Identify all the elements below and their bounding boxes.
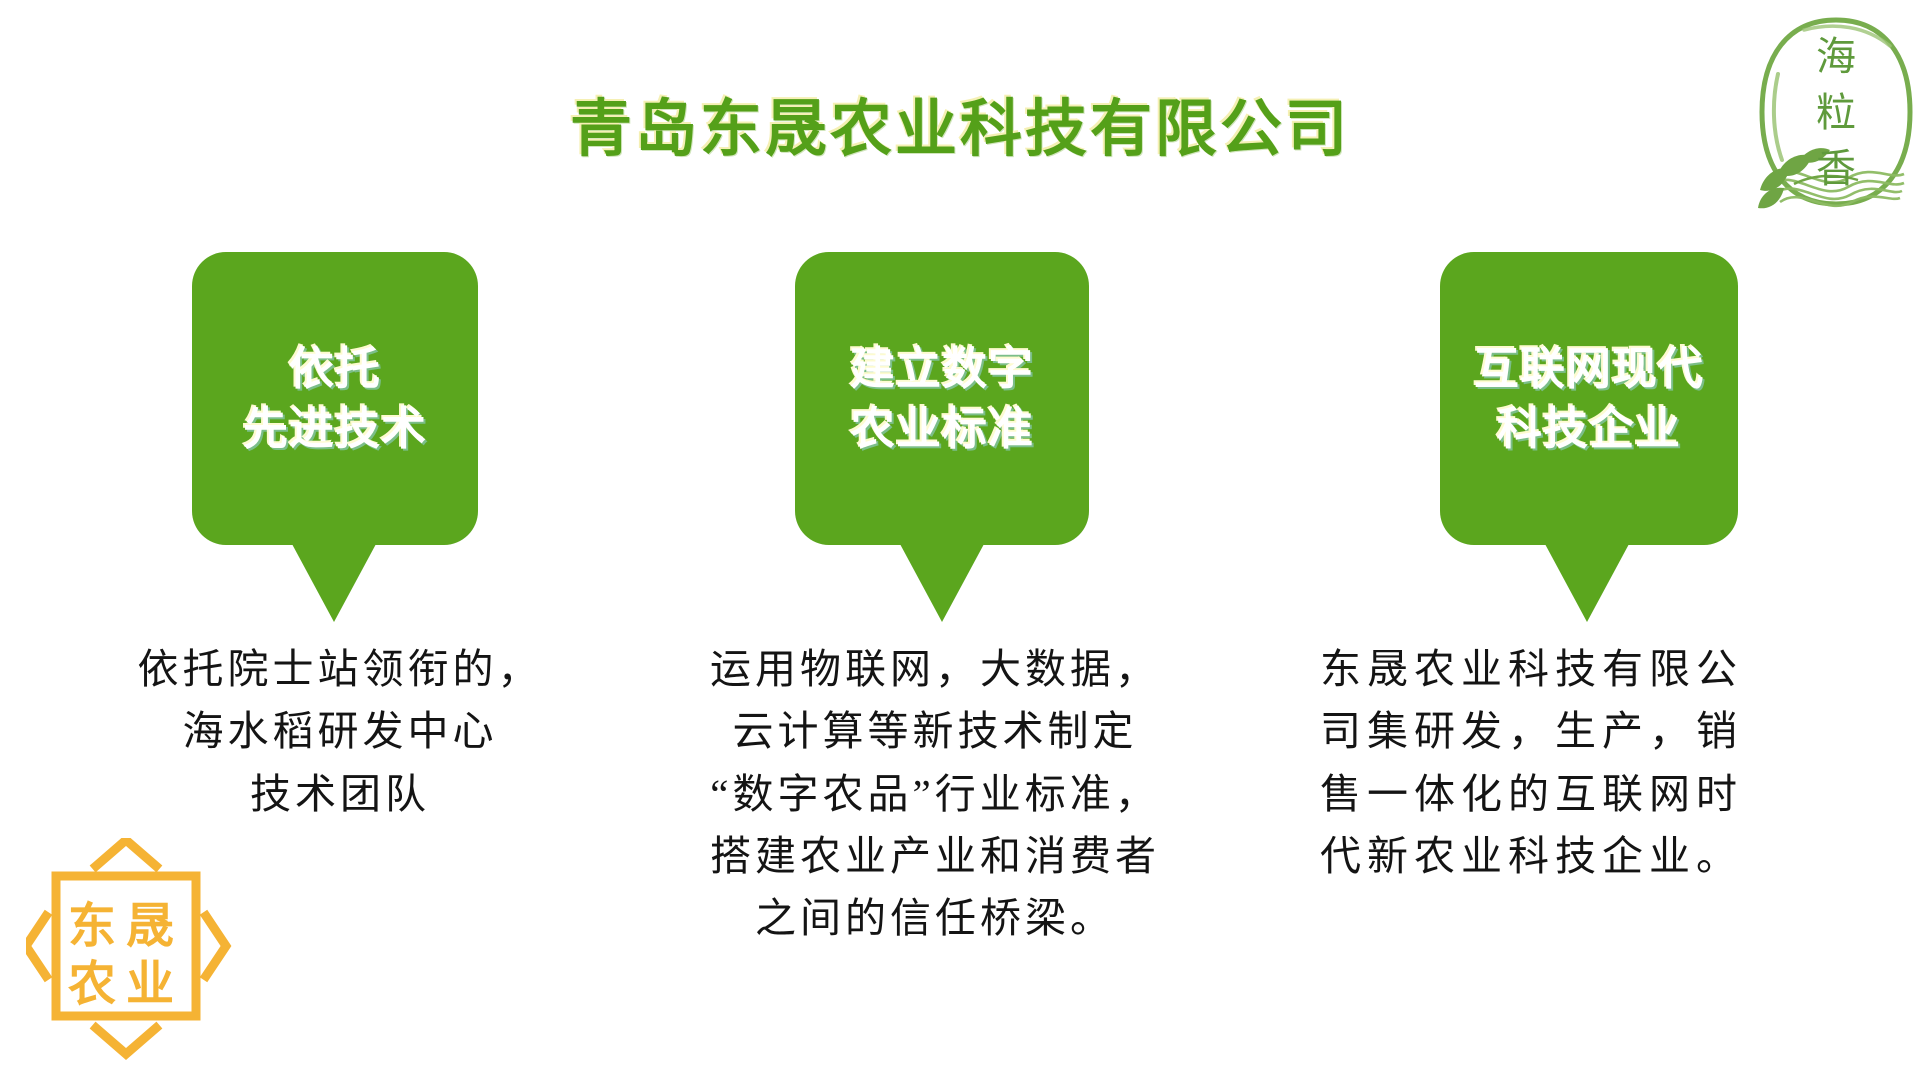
callout-bubble-2-heading: 建立数字 农业标准 bbox=[850, 339, 1034, 458]
callout-bubble-3-heading: 互联网现代 科技企业 bbox=[1474, 339, 1704, 458]
callout-bubble-2-tail bbox=[900, 544, 984, 622]
svg-text:晟: 晟 bbox=[126, 900, 174, 953]
brand-seal-logo: 海 粒 香 bbox=[1748, 8, 1920, 218]
callout-bubble-2: 建立数字 农业标准 bbox=[795, 252, 1089, 545]
callout-bubble-3-body: 东晟农业科技有限公 司集研发，生产，销 售一体化的互联网时 代新农业科技企业。 bbox=[1320, 638, 1840, 887]
callout-bubble-1-tail bbox=[292, 544, 376, 622]
svg-text:海: 海 bbox=[1816, 34, 1856, 79]
callout-bubble-2-body: 运用物联网，大数据， 云计算等新技术制定 “数字农品”行业标准， 搭建农业产业和… bbox=[650, 638, 1220, 950]
svg-text:农: 农 bbox=[68, 958, 116, 1011]
svg-text:业: 业 bbox=[126, 958, 174, 1011]
callout-bubble-1-body: 依托院士站领衔的， 海水稻研发中心 技术团队 bbox=[80, 638, 600, 825]
svg-text:香: 香 bbox=[1816, 146, 1856, 191]
svg-text:粒: 粒 bbox=[1816, 90, 1856, 135]
callout-bubble-1: 依托 先进技术 bbox=[192, 252, 478, 545]
svg-text:东: 东 bbox=[68, 900, 116, 953]
page-title: 青岛东晟农业科技有限公司 bbox=[0, 78, 1920, 168]
corner-logo-dongsheng: 东 晟 农 业 bbox=[26, 838, 246, 1063]
callout-bubble-1-heading: 依托 先进技术 bbox=[243, 339, 427, 458]
callout-bubble-3: 互联网现代 科技企业 bbox=[1440, 252, 1738, 545]
callout-bubble-3-tail bbox=[1545, 544, 1629, 622]
